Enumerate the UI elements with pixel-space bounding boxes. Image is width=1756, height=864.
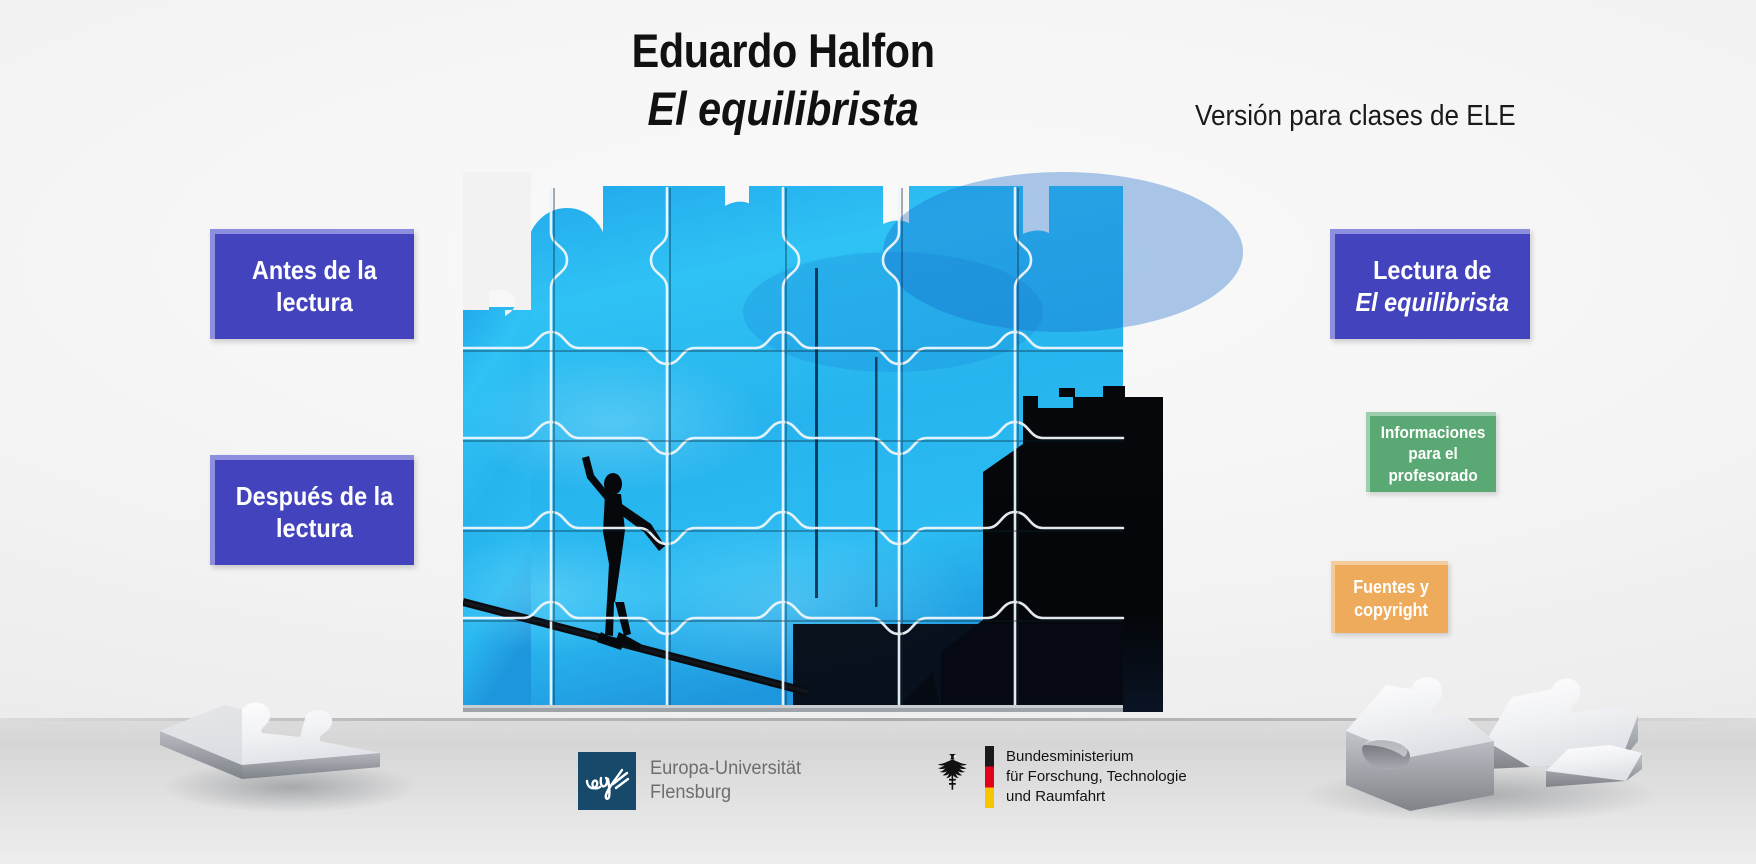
nav-label-line1: Lectura de [1356, 255, 1509, 287]
nav-label-line2: copyright [1354, 599, 1430, 622]
nav-label-line3: profesorado [1381, 465, 1486, 486]
nav-label-line1: Informaciones [1381, 422, 1486, 443]
subtitle: Versión para clases de ELE [1195, 100, 1573, 133]
nav-button-antes-de-la-lectura[interactable]: Antes de la lectura [210, 229, 414, 339]
bmbf-line2: für Forschung, Technologie [1006, 767, 1187, 787]
footer-logos: Europa-Universität Flensburg Bundesminis… [0, 742, 1756, 822]
nav-label-line2: lectura [236, 513, 393, 545]
bmbf-line3: und Raumfahrt [1006, 787, 1187, 807]
puzzle-artwork [463, 172, 1263, 712]
nav-button-despues-de-la-lectura[interactable]: Después de la lectura [210, 455, 414, 565]
bmbf-line1: Bundesministerium [1006, 747, 1187, 767]
federal-eagle-icon [935, 746, 979, 798]
nav-label-line2: para el [1381, 443, 1486, 464]
euf-line1: Europa-Universität [650, 757, 801, 781]
euf-logo-text: Europa-Universität Flensburg [650, 757, 801, 806]
nav-button-fuentes-y-copyright[interactable]: Fuentes y copyright [1331, 561, 1448, 633]
nav-label-line2: lectura [252, 287, 377, 319]
nav-button-informaciones-para-el-profesorado[interactable]: Informaciones para el profesorado [1366, 412, 1496, 492]
logo-europa-universitaet-flensburg: Europa-Universität Flensburg [578, 752, 807, 810]
nav-label-line1: Después de la [236, 481, 393, 513]
slide-stage: Eduardo Halfon El equilibrista Versión p… [0, 0, 1756, 864]
nav-label-line2: El equilibrista [1356, 287, 1509, 319]
german-flag-bar [985, 746, 994, 808]
nav-label-line1: Fuentes y [1354, 576, 1430, 599]
nav-label-line1: Antes de la [252, 255, 377, 287]
nav-button-lectura-de-el-equilibrista[interactable]: Lectura de El equilibrista [1330, 229, 1530, 339]
logo-bundesministerium: Bundesministerium für Forschung, Technol… [935, 746, 1187, 808]
euf-mark-icon [578, 752, 636, 810]
bmbf-logo-text: Bundesministerium für Forschung, Technol… [1006, 746, 1187, 807]
euf-line2: Flensburg [650, 781, 801, 805]
puzzle-image [463, 172, 1263, 712]
